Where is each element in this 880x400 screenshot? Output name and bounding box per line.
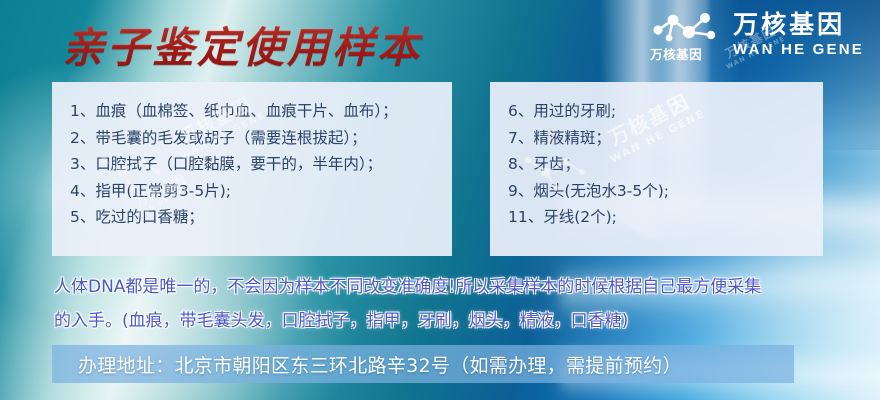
brand-text: 万核基因 WAN HE GENE xyxy=(733,12,864,59)
poster-canvas: 万核基因 万核基因 WAN HE GENE 亲子鉴定使用样本 1、血痕（血棉签、… xyxy=(0,0,880,400)
list-item: 4、指甲(正常剪3-5片); xyxy=(70,178,452,205)
sample-list-panel-left: 1、血痕（血棉签、纸巾血、血痕干片、血布）； 2、带毛囊的毛发或胡子（需要连根拔… xyxy=(52,82,452,256)
brand-name-en: WAN HE GENE xyxy=(733,42,864,57)
list-item: 1、血痕（血棉签、纸巾血、血痕干片、血布）； xyxy=(70,98,452,125)
list-item: 8、牙齿； xyxy=(508,151,823,178)
sample-list-left: 1、血痕（血棉签、纸巾血、血痕干片、血布）； 2、带毛囊的毛发或胡子（需要连根拔… xyxy=(52,82,452,231)
brand-logo: 万核基因 万核基因 WAN HE GENE xyxy=(649,8,864,62)
list-item: 11、牙线(2个); xyxy=(508,204,823,231)
paragraph-line: 的入手。(血痕，带毛囊头发，口腔拭子，指甲，牙刷，烟头，精液，口香糖) xyxy=(54,304,844,338)
list-item: 3、口腔拭子（口腔黏膜，要干的，半年内）； xyxy=(70,151,452,178)
description-paragraph: 人体DNA都是唯一的，不会因为样本不同改变准确度!所以采集样本的时候根据自己最方… xyxy=(54,270,844,338)
address-text: 办理地址：北京市朝阳区东三环北路辛32号（如需办理，需提前预约） xyxy=(52,351,682,378)
address-bar: 办理地址：北京市朝阳区东三环北路辛32号（如需办理，需提前预约） xyxy=(52,345,794,383)
page-title: 亲子鉴定使用样本 xyxy=(62,14,422,75)
list-item: 2、带毛囊的毛发或胡子（需要连根拔起）； xyxy=(70,125,452,152)
molecule-icon: 万核基因 xyxy=(649,8,721,62)
list-item: 6、用过的牙刷; xyxy=(508,98,823,125)
logo-mark-label: 万核基因 xyxy=(650,44,702,63)
list-item: 7、精液精斑； xyxy=(508,125,823,152)
paragraph-line: 人体DNA都是唯一的，不会因为样本不同改变准确度!所以采集样本的时候根据自己最方… xyxy=(54,270,844,304)
list-item: 9、烟头(无泡水3-5个); xyxy=(508,178,823,205)
brand-name-cn: 万核基因 xyxy=(733,12,864,37)
list-item: 5、吃过的口香糖； xyxy=(70,204,452,231)
sample-list-panel-right: 6、用过的牙刷; 7、精液精斑； 8、牙齿； 9、烟头(无泡水3-5个); 11… xyxy=(490,82,823,256)
sample-list-right: 6、用过的牙刷; 7、精液精斑； 8、牙齿； 9、烟头(无泡水3-5个); 11… xyxy=(490,82,823,231)
